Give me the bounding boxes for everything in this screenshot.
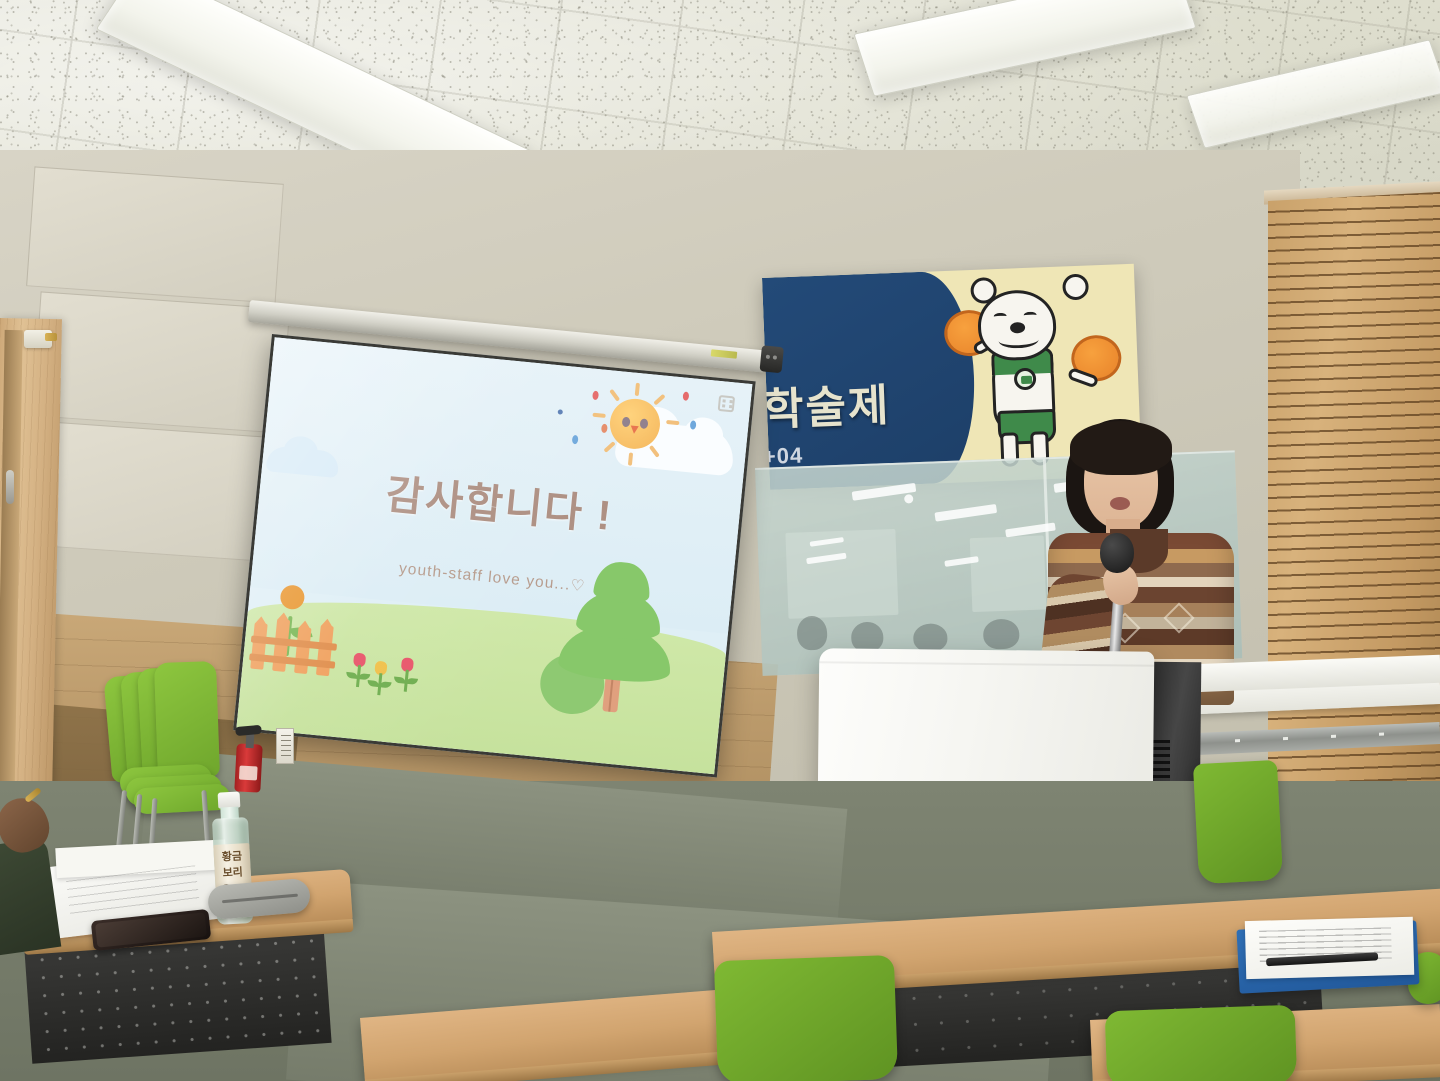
presenter xyxy=(1022,415,1232,685)
bottle-brand-line1: 황금 xyxy=(214,851,251,864)
door-handle[interactable] xyxy=(6,470,14,504)
sunflower-icon xyxy=(267,572,317,622)
fence-icon xyxy=(248,617,339,677)
tulip-icon-2 xyxy=(370,660,389,695)
housing-label xyxy=(711,349,738,359)
classroom-photo-scene: 학술제 +04 xyxy=(0,0,1440,1081)
clipboard-paper xyxy=(1245,917,1414,979)
wall-panel-1 xyxy=(26,166,284,303)
slide-corner-marker-icon xyxy=(718,395,735,412)
bottle-brand-line2: 보리 xyxy=(214,863,251,881)
wall-sign xyxy=(276,728,294,764)
seated-attendee xyxy=(0,798,60,948)
door-hinge-icon xyxy=(24,330,52,348)
presentation-slide: 감사합니다 ! youth-staff love you...♡ xyxy=(236,337,752,774)
tulip-icon-1 xyxy=(349,652,368,687)
tulip-icon-3 xyxy=(397,657,416,692)
banner-heading: 학술제 xyxy=(762,369,892,438)
projector-screen: 감사합니다 ! youth-staff love you...♡ xyxy=(233,334,756,778)
microphone-icon[interactable] xyxy=(1100,533,1134,573)
fire-extinguisher-icon[interactable] xyxy=(234,725,263,792)
clipboard[interactable] xyxy=(1236,920,1419,993)
screen-motor-cap xyxy=(759,345,783,373)
